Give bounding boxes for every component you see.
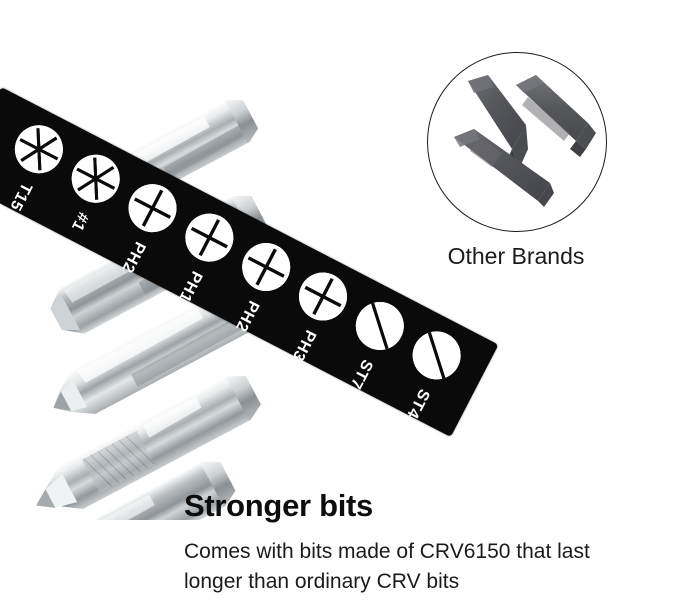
bit-slot-label: PH3 bbox=[288, 327, 319, 364]
other-brands-circle bbox=[427, 52, 607, 232]
bit-slot-label: PH1 bbox=[174, 268, 205, 305]
body-copy: Comes with bits made of CRV6150 that las… bbox=[184, 537, 654, 597]
other-brand-slotted-bit bbox=[454, 129, 554, 207]
star-bit-icon bbox=[63, 146, 128, 211]
body-copy-line-2: longer than ordinary CRV bits bbox=[184, 567, 654, 597]
slotted-bit-icon bbox=[404, 323, 469, 388]
other-brand-phillips-bit bbox=[516, 75, 596, 157]
bit-slot-label: PH2 bbox=[117, 238, 148, 275]
phillips-bit-icon bbox=[234, 235, 299, 300]
other-brands-caption: Other Brands bbox=[427, 243, 605, 270]
phillips-bit-icon bbox=[120, 176, 185, 241]
phillips-bit-icon bbox=[177, 205, 242, 270]
other-brands-bits-illustration bbox=[428, 53, 606, 231]
headline: Stronger bits bbox=[184, 488, 373, 524]
product-feature-image: ST4.5ST7PH3PH2PH1PH2#1T15 bbox=[0, 0, 679, 613]
slotted-bit-icon bbox=[347, 294, 412, 359]
bit-slot-label: ST7 bbox=[346, 356, 376, 392]
bit-slot-label: ST4.5 bbox=[396, 386, 433, 434]
bit-slot-label: PH2 bbox=[231, 297, 262, 334]
torx-bit-icon bbox=[7, 117, 72, 182]
phillips-bit-icon bbox=[291, 264, 356, 329]
bit-slot-label: #1 bbox=[67, 209, 92, 234]
body-copy-line-1: Comes with bits made of CRV6150 that las… bbox=[184, 537, 654, 567]
bit-slot-label: T15 bbox=[5, 179, 34, 213]
